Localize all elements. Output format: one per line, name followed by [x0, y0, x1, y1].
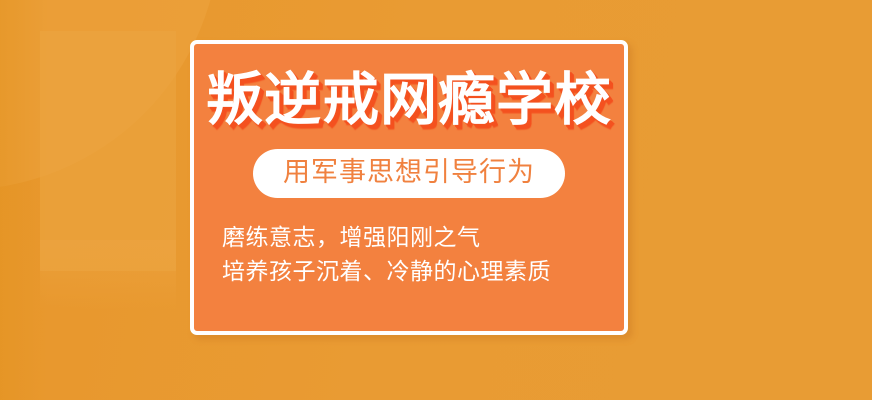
body-line-1: 磨练意志，增强阳刚之气	[222, 220, 551, 254]
body-text-block: 磨练意志，增强阳刚之气 培养孩子沉着、冷静的心理素质	[222, 220, 551, 288]
subtitle-pill: 用军事思想引导行为	[253, 149, 565, 198]
background-rectangle-fade	[40, 240, 176, 310]
panel-content: 叛逆戒网瘾学校 用军事思想引导行为 磨练意志，增强阳刚之气 培养孩子沉着、冷静的…	[194, 44, 624, 331]
promo-banner: 叛逆戒网瘾学校 用军事思想引导行为 磨练意志，增强阳刚之气 培养孩子沉着、冷静的…	[0, 0, 872, 400]
page-title: 叛逆戒网瘾学校	[206, 72, 612, 129]
white-framed-panel: 叛逆戒网瘾学校 用军事思想引导行为 磨练意志，增强阳刚之气 培养孩子沉着、冷静的…	[190, 40, 628, 335]
background-rectangle-shape	[40, 31, 176, 271]
body-line-2: 培养孩子沉着、冷静的心理素质	[222, 254, 551, 288]
